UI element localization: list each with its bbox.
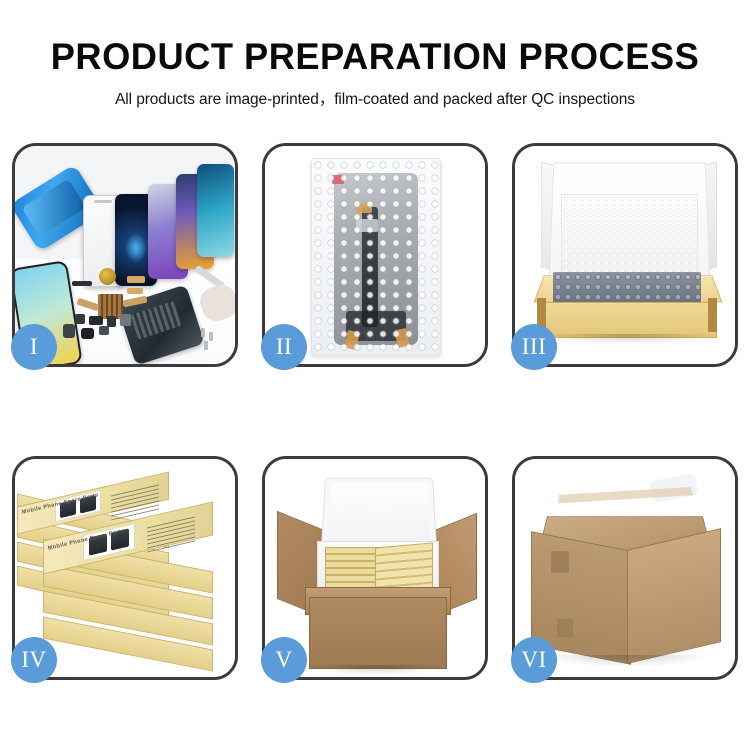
packing-tape-icon	[558, 487, 693, 503]
carton-tab-icon	[551, 551, 569, 573]
step-badge-4: IV	[11, 637, 57, 683]
small-component-icon	[99, 326, 109, 335]
screw-icon	[201, 328, 205, 337]
small-component-icon	[63, 324, 75, 338]
drop-shadow	[539, 334, 715, 344]
step-panel-6[interactable]: VI	[512, 456, 738, 680]
step-panel-1[interactable]: I	[12, 143, 238, 367]
small-component-icon	[107, 316, 116, 327]
flex-cable-part-icon	[127, 276, 145, 283]
step-badge-3: III	[511, 324, 557, 370]
screw-icon	[204, 341, 208, 350]
step-badge-2: II	[261, 324, 307, 370]
drop-shadow	[541, 655, 711, 667]
flex-cable-part-icon	[127, 288, 143, 294]
speaker-bar-part-icon	[72, 281, 92, 286]
step-panel-4[interactable]: Mobile Phone Spare Parts Mobile Phone Sp…	[12, 456, 238, 680]
white-foam-sheet-icon	[561, 194, 698, 278]
drop-shadow	[309, 665, 445, 675]
page-title: PRODUCT PREPARATION PROCESS	[8, 38, 743, 75]
small-component-icon	[81, 328, 94, 339]
wireless-coil-part-icon	[99, 268, 116, 285]
foam-box-lid-icon	[321, 478, 437, 551]
small-component-icon	[89, 316, 103, 325]
process-steps-grid: I II	[12, 143, 738, 680]
box-corner-right-icon	[708, 298, 717, 332]
step-badge-6: VI	[511, 637, 557, 683]
small-component-icon	[120, 314, 131, 326]
step-badge-5: V	[261, 637, 307, 683]
screw-icon	[209, 332, 213, 341]
small-component-icon	[75, 314, 85, 324]
page-subtitle: All products are image-printed，film-coat…	[0, 87, 750, 109]
bubble-texture-icon	[312, 159, 440, 355]
carton-right-panel-icon	[627, 528, 721, 664]
page-header: PRODUCT PREPARATION PROCESS All products…	[0, 0, 750, 109]
box-front-panel-icon	[539, 302, 717, 338]
phone-teal-icon	[197, 164, 234, 257]
step-panel-5[interactable]: V	[262, 456, 488, 680]
step-badge-1: I	[11, 324, 57, 370]
carton-tab-icon	[557, 619, 573, 637]
step-panel-2[interactable]: II	[262, 143, 488, 367]
bubble-wrap-bag-icon	[311, 158, 441, 356]
step-panel-3[interactable]: III	[512, 143, 738, 367]
carton-front-panel-icon	[309, 597, 447, 669]
